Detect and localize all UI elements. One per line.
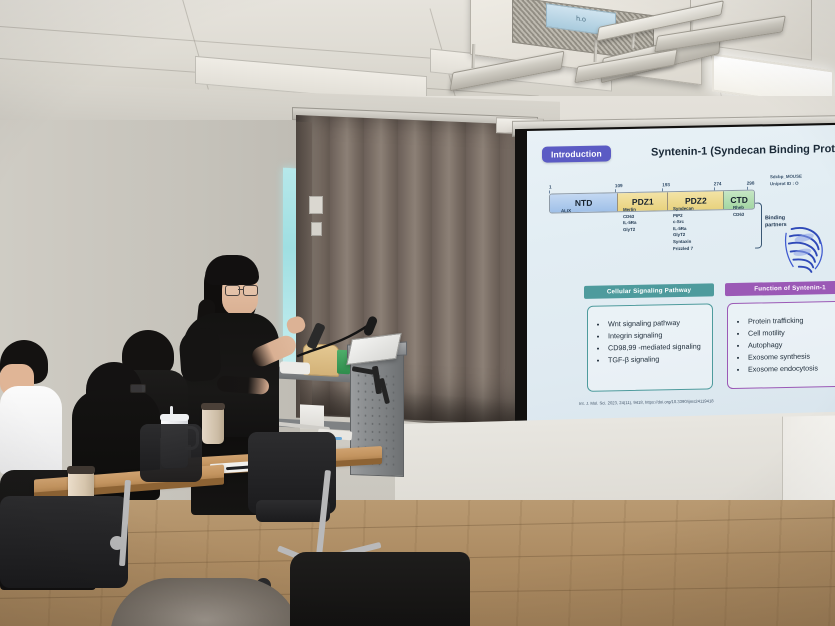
slide-citation: Int. J. Mol. Sci. 2023, 24(11), 9418, ht… — [579, 398, 714, 406]
list-item: Exosome synthesis — [748, 351, 818, 363]
slide-title: Syntenin-1 (Syndecan Binding Prot — [651, 143, 835, 159]
binding-partners-ntd: ALIX — [561, 208, 571, 215]
bullet-list-cellular-signaling: Wnt signaling pathway Integrin signaling… — [599, 318, 701, 368]
binding-partners-brace — [755, 202, 762, 248]
binding-partners-pdz1: MerlinCD63IL-5RaGlyT2 — [623, 207, 636, 234]
binding-partners-ctd: RhebCD63 — [733, 205, 744, 218]
list-item: Protein trafficking — [748, 315, 818, 327]
binding-partner-item: GlyT2 — [623, 227, 636, 234]
binding-partner-item: Rheb — [733, 205, 744, 212]
domain-tick: 109 — [615, 183, 623, 188]
protein-domain-diagram: 1 109 193 274 298 NTD PDZ1 PDZ2 CTD — [549, 181, 755, 214]
glasses-icon — [225, 285, 257, 294]
domain-tick: 298 — [747, 181, 755, 186]
seminar-room-photo: h.o Introduction Syntenin-1 (Syndecan Bi… — [0, 0, 835, 626]
domain-bar: NTD PDZ1 PDZ2 CTD — [549, 190, 755, 214]
audience-body-white-shirt — [0, 386, 62, 474]
presenter-hand — [285, 315, 307, 336]
bullet-list-function: Protein trafficking Cell motility Autoph… — [739, 315, 818, 376]
chair-backrest[interactable] — [140, 424, 202, 482]
uniprot-id: Uniprot ID : O — [770, 180, 802, 187]
chair-backrest[interactable] — [0, 496, 128, 588]
presentation-slide: Introduction Syntenin-1 (Syndecan Bindin… — [527, 125, 835, 431]
tumbler-cup — [202, 406, 224, 444]
binding-partner-item: Merlin — [623, 207, 636, 214]
foreground-person-body — [290, 552, 470, 626]
tumbler-lid — [160, 414, 189, 421]
presenter-sleeve — [178, 328, 222, 383]
slide-section-badge: Introduction — [542, 145, 611, 162]
panel-header-cellular-signaling: Cellular Signaling Pathway — [584, 283, 714, 298]
list-item: Autophagy — [748, 339, 818, 351]
panel-header-function: Function of Syntenin-1 — [725, 281, 835, 296]
protein-structure-icon — [779, 221, 833, 276]
presenter-hair-front — [205, 255, 259, 285]
domain-tick: 1 — [549, 184, 552, 189]
list-item: Cell motility — [748, 327, 818, 339]
list-item: TGF-β signaling — [608, 353, 701, 366]
domain-tick: 274 — [714, 181, 722, 186]
binding-partner-item: Syntaxin — [673, 239, 694, 246]
projection-screen-surface[interactable]: Introduction Syntenin-1 (Syndecan Bindin… — [527, 125, 835, 431]
list-item: Integrin signaling — [608, 330, 701, 343]
list-item: CD98,99 -mediated signaling — [608, 341, 701, 354]
list-item: Exosome endocytosis — [748, 363, 818, 375]
glasses-icon — [130, 384, 146, 393]
tumbler-lid — [201, 403, 225, 410]
list-item: Wnt signaling pathway — [608, 318, 701, 331]
wall-switch[interactable] — [311, 222, 322, 236]
domain-tick: 193 — [662, 182, 670, 187]
binding-partner-item: ALIX — [561, 208, 571, 215]
uniprot-annotation: Sdcbp_MOUSE Uniprot ID : O — [770, 174, 802, 188]
tumbler-lid — [67, 466, 95, 474]
wall-socket[interactable] — [309, 196, 323, 214]
chair-adjust-knob[interactable] — [110, 536, 124, 550]
binding-partner-item: Frizzled 7 — [673, 245, 694, 252]
binding-partner-item: Syndecan — [673, 206, 694, 213]
binding-partner-item: CD63 — [733, 211, 744, 218]
binding-partners-pdz2: SyndecanPIP2c-SrcIL-5RaGlyT2SyntaxinFriz… — [673, 206, 694, 253]
